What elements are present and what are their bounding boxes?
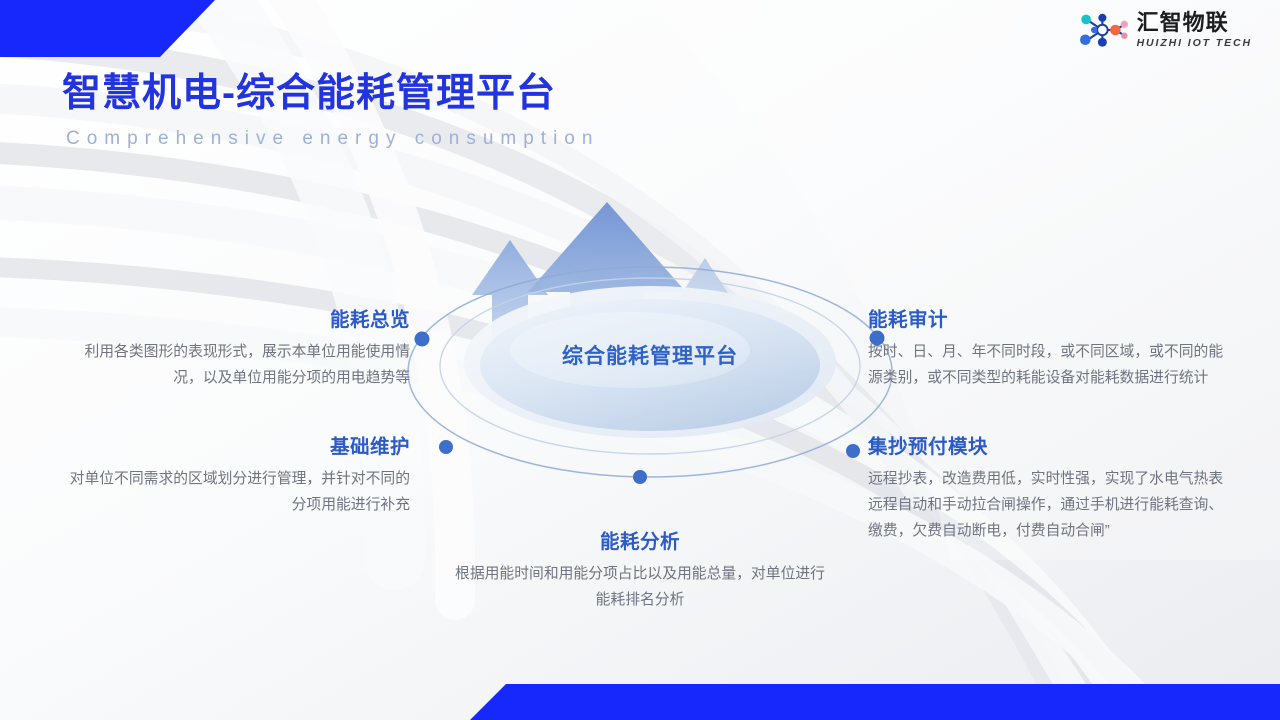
center-platform-label: 综合能耗管理平台 [400,340,900,370]
module-energy-analysis: 能耗分析 根据用能时间和用能分项占比以及用能总量，对单位进行能耗排名分析 [455,525,825,613]
module-energy-overview: 能耗总览 利用各类图形的表现形式，展示本单位用能使用情况，以及单位用能分项的用电… [60,303,410,391]
page-title: 智慧机电-综合能耗管理平台 [62,72,556,117]
module-heading-analysis: 能耗分析 [455,525,825,554]
network-nodes-icon [1078,10,1130,50]
slide-canvas: 智慧机电-综合能耗管理平台 Comprehensive energy consu… [0,0,1280,720]
module-energy-audit: 能耗审计 按时、日、月、年不同时段，或不同区域，或不同的能源类别，或不同类型的耗… [868,303,1228,391]
module-heading-maintenance: 基础维护 [60,430,410,459]
module-body-maintenance: 对单位不同需求的区域划分进行管理，并针对不同的分项用能进行补充 [60,466,410,518]
orbit-dot-bottom [633,470,647,484]
module-body-overview: 利用各类图形的表现形式，展示本单位用能使用情况，以及单位用能分项的用电趋势等 [60,339,410,391]
module-heading-prepay: 集抄预付模块 [868,430,1228,459]
bottom-blue-bar [470,684,1280,720]
page-subtitle: Comprehensive energy consumption [66,128,599,150]
orbit-dot-right-bottom [846,444,860,458]
module-body-audit: 按时、日、月、年不同时段，或不同区域，或不同的能源类别，或不同类型的耗能设备对能… [868,339,1228,391]
module-heading-overview: 能耗总览 [60,303,410,332]
module-body-analysis: 根据用能时间和用能分项占比以及用能总量，对单位进行能耗排名分析 [455,561,825,613]
module-prepay-collection: 集抄预付模块 远程抄表，改造费用低，实时性强，实现了水电气热表远程自动和手动拉合… [868,430,1228,544]
module-heading-audit: 能耗审计 [868,303,1228,332]
orbit-dot-left-bottom [439,440,453,454]
module-body-prepay: 远程抄表，改造费用低，实时性强，实现了水电气热表远程自动和手动拉合闸操作，通过手… [868,466,1228,544]
module-basic-maintenance: 基础维护 对单位不同需求的区域划分进行管理，并针对不同的分项用能进行补充 [60,430,410,518]
brand-logo: 汇智物联 HUIZHI IOT TECH [1078,10,1252,50]
logo-name-cn: 汇智物联 [1137,12,1252,34]
logo-name-en: HUIZHI IOT TECH [1137,38,1252,49]
